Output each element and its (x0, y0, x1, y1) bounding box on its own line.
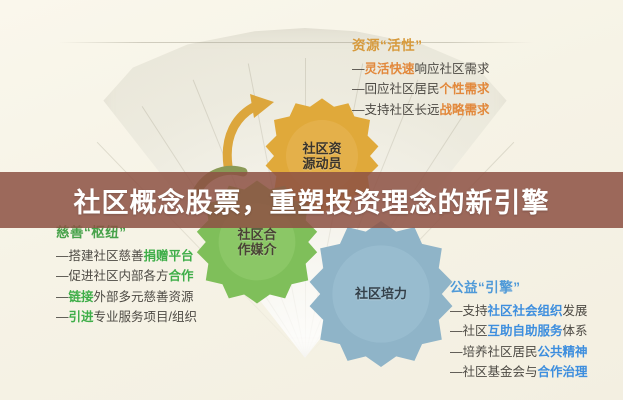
line-highlight: 合作 (169, 269, 194, 283)
block-line: —灵活快速响应社区需求 (352, 59, 490, 79)
line-post: 外部多元慈善资源 (94, 290, 194, 304)
block-line: —社区互助自助服务体系 (450, 321, 588, 341)
gear-label: 社区合 作媒介 (237, 227, 276, 258)
block-line: —支持社区长远战略需求 (352, 100, 490, 120)
line-prefix: — (56, 249, 69, 263)
line-highlight: 社区社会组织 (488, 304, 563, 318)
block-line: —回应社区居民个性需求 (352, 79, 490, 99)
text-block-resource: 资源“活性” —灵活快速响应社区需求 —回应社区居民个性需求 —支持社区长远战略… (352, 34, 490, 120)
line-pre: 支持 (463, 304, 488, 318)
gear-label: 社区资 源动员 (302, 141, 341, 172)
block-line: —促进社区内部各方合作 (56, 266, 197, 286)
block-line: —引进专业服务项目/组织 (56, 307, 197, 327)
line-highlight: 灵活快速 (365, 62, 415, 76)
text-block-public-welfare: 公益“引擎” —支持社区社会组织发展 —社区互助自助服务体系 —培养社区居民公共… (450, 276, 588, 382)
gear-label: 社区培力 (355, 286, 407, 301)
gear-label-line1: 社区培力 (355, 286, 407, 301)
block-heading: 公益“引擎” (450, 276, 588, 296)
block-line: —社区基金会与合作治理 (450, 362, 588, 382)
gear-community-empowerment: 社区培力 (305, 218, 457, 370)
line-highlight: 互助自助服务 (488, 324, 563, 338)
line-pre: 支持社区长远 (365, 103, 440, 117)
line-highlight: 战略需求 (440, 103, 490, 117)
line-prefix: — (450, 345, 463, 359)
line-prefix: — (450, 324, 463, 338)
line-highlight: 捐赠平台 (144, 249, 194, 263)
line-pre: 搭建社区慈善 (69, 249, 144, 263)
line-prefix: — (450, 304, 463, 318)
line-post: 专业服务项目/组织 (94, 310, 197, 324)
block-line: —链接外部多元慈善资源 (56, 287, 197, 307)
line-prefix: — (352, 82, 365, 96)
line-prefix: — (352, 103, 365, 117)
line-highlight: 个性需求 (440, 82, 490, 96)
gear-label-line2: 作媒介 (237, 242, 276, 257)
block-line: —培养社区居民公共精神 (450, 342, 588, 362)
line-prefix: — (56, 269, 69, 283)
infographic-image: 社区资 源动员 社区合 作媒介 社区培力 资源“活性” —灵活快速响应社区需求 … (0, 0, 623, 400)
line-pre: 回应社区居民 (365, 82, 440, 96)
line-prefix: — (56, 290, 69, 304)
line-prefix: — (56, 310, 69, 324)
line-pre: 培养社区居民 (463, 345, 538, 359)
line-highlight: 引进 (69, 310, 94, 324)
gear-label-line2: 源动员 (302, 156, 341, 171)
line-highlight: 合作治理 (538, 365, 588, 379)
block-line: —支持社区社会组织发展 (450, 301, 588, 321)
page-title: 社区概念股票，重塑投资理念的新引擎 (74, 181, 550, 220)
line-pre: 社区基金会与 (463, 365, 538, 379)
gear-label-line1: 社区资 (302, 141, 341, 156)
block-heading: 资源“活性” (352, 34, 490, 54)
line-pre: 促进社区内部各方 (69, 269, 169, 283)
line-highlight: 公共精神 (538, 345, 588, 359)
title-overlay-bar: 社区概念股票，重塑投资理念的新引擎 (0, 172, 623, 228)
line-pre: 社区 (463, 324, 488, 338)
block-line: —搭建社区慈善捐赠平台 (56, 246, 197, 266)
line-prefix: — (352, 62, 365, 76)
text-block-charity: 慈善“枢纽” —搭建社区慈善捐赠平台 —促进社区内部各方合作 —链接外部多元慈善… (56, 221, 197, 327)
line-post: 发展 (563, 304, 588, 318)
line-prefix: — (450, 365, 463, 379)
gear-label-line1: 社区合 (237, 227, 276, 242)
line-post: 响应社区需求 (415, 62, 490, 76)
line-highlight: 链接 (69, 290, 94, 304)
line-post: 体系 (563, 324, 588, 338)
